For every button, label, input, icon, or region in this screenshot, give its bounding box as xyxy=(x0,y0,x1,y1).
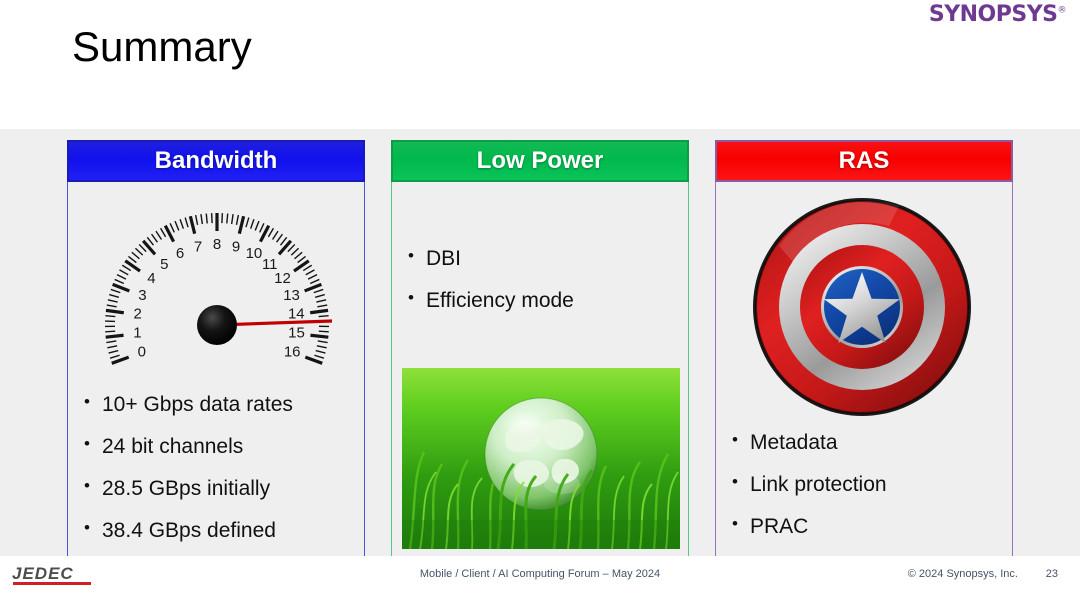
captain-america-shield-icon xyxy=(749,196,975,418)
column-bandwidth: 012345678910111213141516 10+ Gbps data r… xyxy=(67,140,365,561)
svg-text:13: 13 xyxy=(283,287,300,304)
list-item: 10+ Gbps data rates xyxy=(80,392,358,419)
column-header-low-power: Low Power xyxy=(391,140,689,182)
svg-text:8: 8 xyxy=(213,236,221,253)
ras-bullet-list: Metadata Link protection PRAC xyxy=(728,430,1006,556)
synopsys-trademark-symbol: ® xyxy=(1058,6,1067,16)
column-header-bandwidth: Bandwidth xyxy=(67,140,365,182)
svg-text:6: 6 xyxy=(176,245,184,262)
list-item: DBI xyxy=(404,246,682,273)
column-header-low-power-label: Low Power xyxy=(477,147,604,175)
synopsys-logo-text: SYNOPSYS xyxy=(929,2,1058,27)
svg-text:2: 2 xyxy=(134,306,142,323)
page-title: Summary xyxy=(72,24,252,70)
svg-text:10: 10 xyxy=(246,245,263,262)
summary-columns: 012345678910111213141516 10+ Gbps data r… xyxy=(0,129,1080,556)
svg-text:12: 12 xyxy=(274,270,291,287)
list-item: 38.4 GBps defined xyxy=(80,518,358,545)
svg-text:14: 14 xyxy=(288,306,305,323)
list-item: 28.5 GBps initially xyxy=(80,476,358,503)
column-header-ras: RAS xyxy=(715,140,1013,182)
footer-page-number: 23 xyxy=(1046,568,1058,580)
synopsys-logo: SYNOPSYS® xyxy=(929,4,1066,26)
list-item: PRAC xyxy=(728,514,1006,541)
svg-text:4: 4 xyxy=(147,270,155,287)
list-item: 24 bit channels xyxy=(80,434,358,461)
slide-footer: JEDEC Mobile / Client / AI Computing For… xyxy=(0,556,1080,597)
svg-text:9: 9 xyxy=(232,238,240,255)
column-low-power-body: DBI Efficiency mode xyxy=(391,153,689,561)
svg-text:0: 0 xyxy=(138,343,146,360)
svg-text:1: 1 xyxy=(133,325,141,342)
svg-text:3: 3 xyxy=(138,287,146,304)
low-power-bullet-list: DBI Efficiency mode xyxy=(404,246,682,330)
column-header-bandwidth-label: Bandwidth xyxy=(155,147,278,175)
svg-text:16: 16 xyxy=(284,343,301,360)
bandwidth-bullet-list: 10+ Gbps data rates 24 bit channels 28.5… xyxy=(80,392,358,560)
list-item: Link protection xyxy=(728,472,1006,499)
column-ras: Metadata Link protection PRAC RAS xyxy=(715,140,1013,561)
list-item: Metadata xyxy=(728,430,1006,457)
column-low-power: DBI Efficiency mode xyxy=(391,140,689,561)
column-bandwidth-body: 012345678910111213141516 10+ Gbps data r… xyxy=(67,153,365,561)
speedometer-gauge-icon: 012345678910111213141516 xyxy=(102,206,332,381)
column-ras-body: Metadata Link protection PRAC xyxy=(715,153,1013,561)
svg-text:5: 5 xyxy=(160,256,168,273)
column-header-ras-label: RAS xyxy=(839,147,890,175)
footer-copyright: © 2024 Synopsys, Inc. xyxy=(908,568,1018,580)
svg-text:7: 7 xyxy=(194,238,202,255)
svg-text:15: 15 xyxy=(288,325,305,342)
list-item: Efficiency mode xyxy=(404,288,682,315)
green-globe-in-grass-image xyxy=(402,368,680,549)
